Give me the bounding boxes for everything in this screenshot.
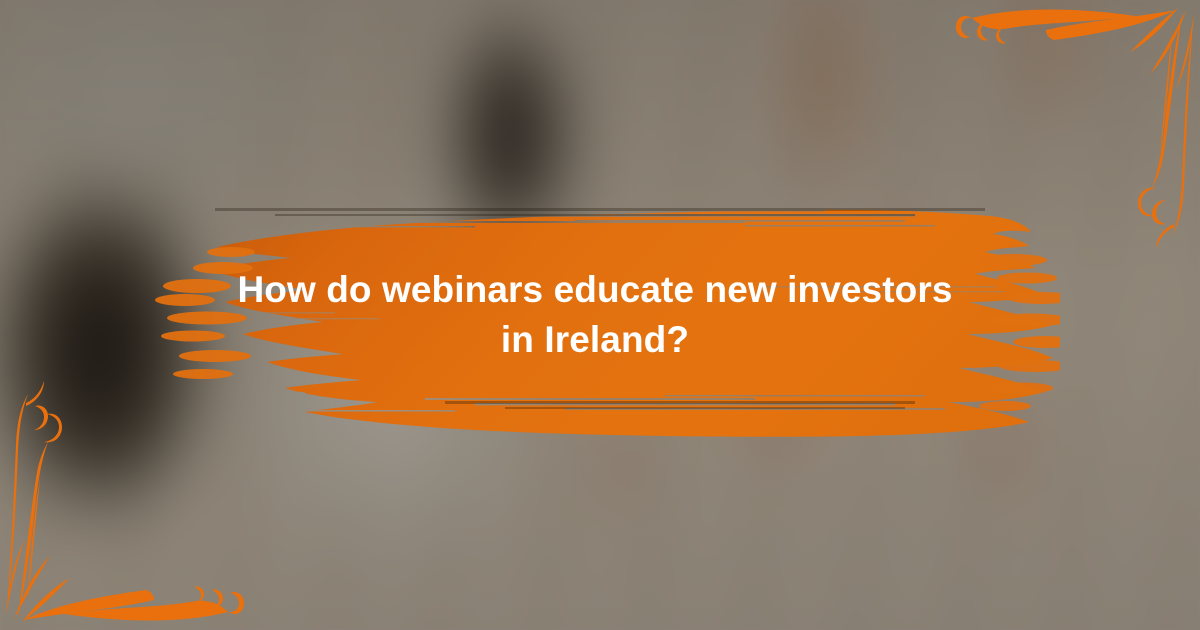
social-share-card: How do webinars educate new investors in… — [0, 0, 1200, 630]
page-title: How do webinars educate new investors in… — [175, 265, 1015, 365]
